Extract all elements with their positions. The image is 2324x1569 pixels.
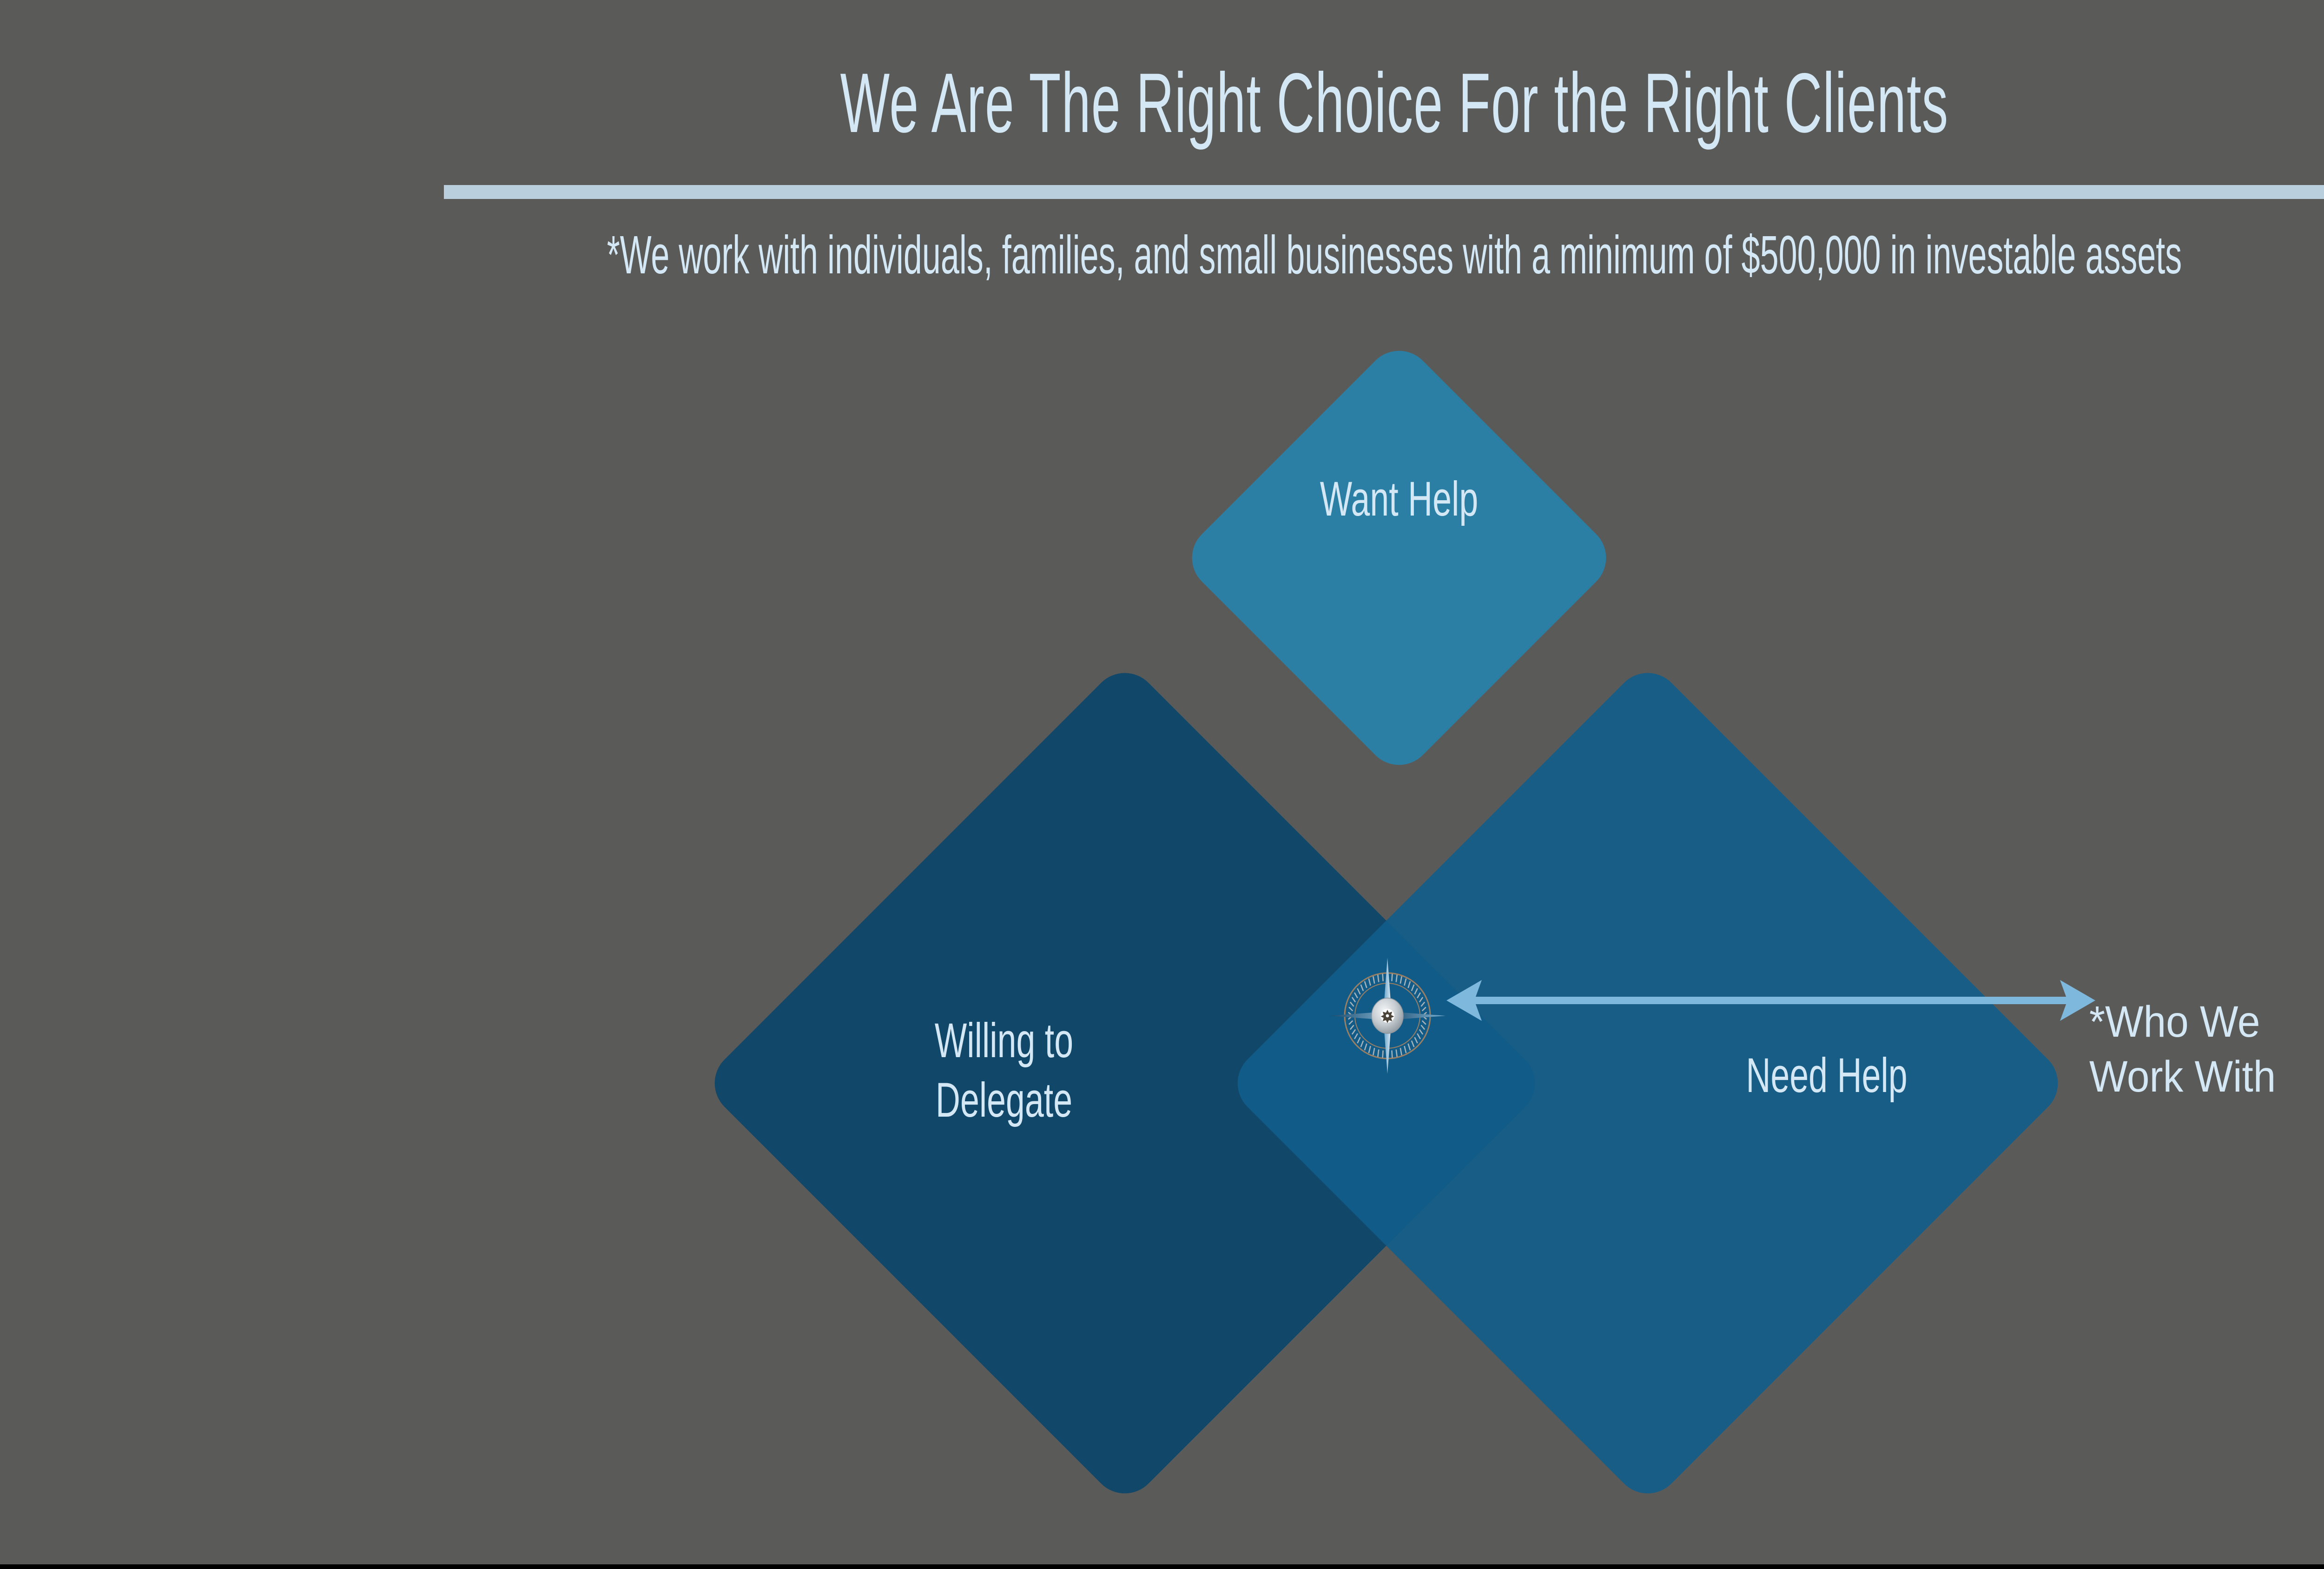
bottom-border-strip xyxy=(0,1564,2324,1569)
diamond-want-help[interactable] xyxy=(1178,337,1620,779)
callout-who-we-work-with: *Who We Work With xyxy=(2089,995,2324,1105)
page-subtitle: *We work with individuals, families, and… xyxy=(530,228,2259,282)
page-title: We Are The Right Choice For the Right Cl… xyxy=(530,60,2259,145)
diamond-need-help[interactable] xyxy=(1224,659,2072,1507)
double-headed-arrow xyxy=(1441,967,2101,1037)
compass-rose-icon xyxy=(1329,958,1446,1074)
slide-canvas: We Are The Right Choice For the Right Cl… xyxy=(0,0,2324,1569)
title-underline-bar xyxy=(444,185,2324,199)
